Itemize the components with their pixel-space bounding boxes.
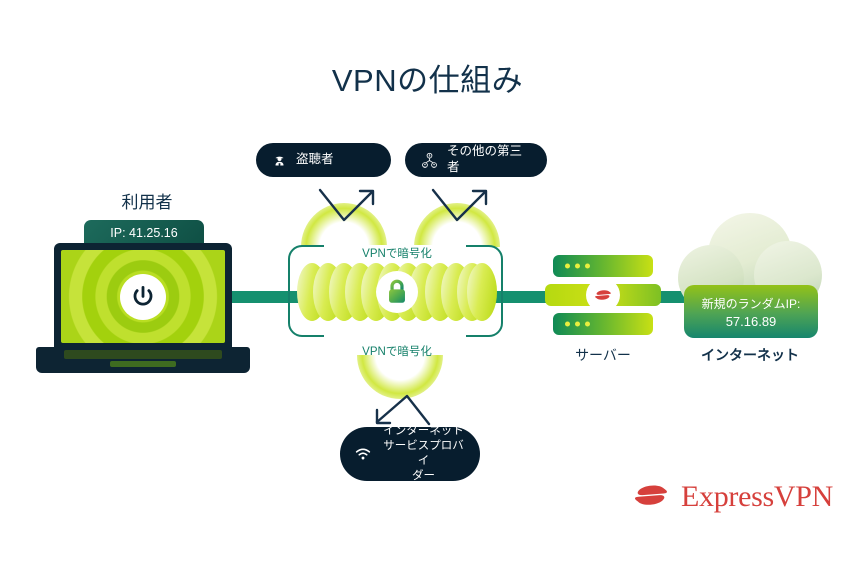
tunnel-ring <box>467 263 497 321</box>
tunnel-label-top: VPNで暗号化 <box>283 245 511 261</box>
brand-name: ExpressVPN <box>681 480 833 514</box>
threat-pill-label: その他の第三者 <box>447 144 531 175</box>
laptop-screen <box>61 250 225 343</box>
server-rack-icon <box>553 255 653 335</box>
laptop-trackpad <box>110 361 176 367</box>
tunnel-rings <box>297 263 497 321</box>
threat-pill-label: 盗聴者 <box>296 152 334 168</box>
server-label: サーバー <box>528 345 678 365</box>
threat-pill-eavesdropper[interactable]: 盗聴者 <box>256 143 391 177</box>
laptop-lid <box>54 243 232 348</box>
infographic-canvas: VPNの仕組み 利用者 IP: 41.25.16 <box>0 0 855 561</box>
expressvpn-logo-icon <box>631 475 671 520</box>
isp-label-line-2: サービスプロバイ <box>383 440 464 467</box>
new-ip-caption: 新規のランダムIP: <box>702 295 801 312</box>
isp-pill[interactable]: インターネット サービスプロバイ ダー <box>340 427 480 481</box>
threat-pill-third-parties[interactable]: その他の第三者 <box>405 143 547 177</box>
internet-label: インターネット <box>672 345 828 365</box>
isp-label-line-1: インターネット <box>383 425 464 437</box>
vpn-tunnel: VPNで暗号化 <box>283 205 511 375</box>
power-button-icon <box>120 274 166 320</box>
cloud-icon: 新規のランダムIP: 57.16.89 <box>678 213 823 338</box>
new-ip-badge: 新規のランダムIP: 57.16.89 <box>684 285 818 338</box>
expressvpn-mark-icon <box>586 278 620 312</box>
isp-label-line-3: ダー <box>412 470 435 482</box>
isp-pill-label: インターネット サービスプロバイ ダー <box>381 424 466 484</box>
network-people-icon <box>421 152 438 169</box>
server-status-dots <box>565 264 590 269</box>
laptop-icon <box>36 243 250 373</box>
laptop-base <box>36 347 250 373</box>
user-label: 利用者 <box>58 188 236 213</box>
server-rack-unit <box>553 255 653 277</box>
laptop-keyboard <box>64 350 222 359</box>
spy-person-icon <box>272 153 287 168</box>
server-status-dots <box>565 322 590 327</box>
wifi-icon <box>354 445 372 463</box>
brand-logo: ExpressVPN <box>631 476 831 518</box>
padlock-icon <box>376 271 418 313</box>
new-ip-value: 57.16.89 <box>726 314 777 329</box>
tunnel-label-bottom: VPNで暗号化 <box>283 343 511 359</box>
page-title: VPNの仕組み <box>0 55 855 100</box>
server-rack-unit <box>553 313 653 335</box>
